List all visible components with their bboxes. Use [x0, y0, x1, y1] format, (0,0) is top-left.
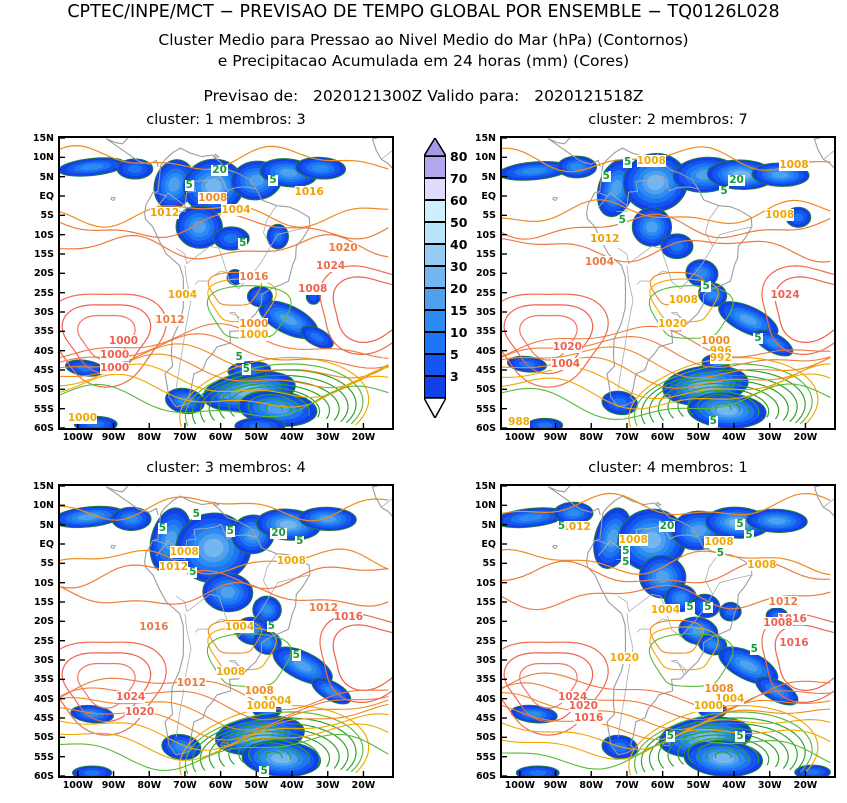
precip-label: 5	[719, 186, 728, 197]
isobar-label: 1000	[68, 412, 97, 424]
isobar-label: 1020	[125, 706, 154, 718]
isobar-label: 1020	[610, 652, 639, 664]
precip-label: 20	[659, 521, 676, 532]
colorbar-cell	[424, 310, 446, 332]
y-axis-tick-label: 45S	[18, 713, 54, 724]
page-title: CPTEC/INPE/MCT − PREVISAO DE TEMPO GLOBA…	[0, 2, 847, 22]
isobar-label: 1016	[139, 621, 168, 633]
isobar-label: 1000	[239, 329, 268, 341]
y-axis-tick-label: 5N	[18, 520, 54, 531]
chart-subtitle-line-2: e Precipitacao Acumulada em 24 horas (mm…	[0, 52, 847, 70]
precip-label: 5	[238, 238, 247, 249]
y-axis-tick-label: 10S	[18, 578, 54, 589]
y-axis-tick-label: 55S	[460, 752, 496, 763]
isobar-label: 1008	[637, 155, 666, 167]
y-axis-tick-label: 15S	[460, 597, 496, 608]
isobar-label: 1016	[574, 712, 603, 724]
isobar-label: 1012	[177, 677, 206, 689]
colorbar-tick-label: 80	[450, 149, 467, 164]
isobar-label: 1004	[551, 358, 580, 370]
precip-contour-band	[128, 165, 143, 173]
y-axis-tick-label: 10N	[460, 500, 496, 511]
colorbar-tick-label: 3	[450, 369, 459, 384]
y-axis-tick-label: 30S	[18, 655, 54, 666]
isobar-label: 1008	[747, 559, 776, 571]
y-axis-tick-label: 20S	[18, 616, 54, 627]
y-axis-tick-label: 10S	[18, 230, 54, 241]
colorbar-tick-label: 40	[450, 237, 467, 252]
panel-title-cluster-4: cluster: 4 membros: 1	[500, 460, 836, 476]
colorbar-tick-label: 10	[450, 325, 467, 340]
y-axis-tick-label: 25S	[460, 636, 496, 647]
precip-contour-band	[529, 770, 547, 776]
precip-contour-band	[567, 509, 580, 516]
isobar-label: 1000	[694, 700, 723, 712]
precip-label: 5	[709, 416, 718, 427]
y-axis-tick-label: 25S	[18, 636, 54, 647]
y-axis-tick-label: 35S	[18, 326, 54, 337]
isobar-label: 1000	[109, 335, 138, 347]
precip-label: 5	[735, 519, 744, 530]
isobar-label: 1000	[239, 318, 268, 330]
colorbar-tick-label: 70	[450, 171, 467, 186]
isobar-label: 1024	[770, 289, 799, 301]
forecast-time-line: Previsao de: 2020121300Z Valido para: 20…	[0, 87, 847, 105]
isobar-label: 1008	[198, 192, 227, 204]
isobar-label: 1016	[334, 611, 363, 623]
isobar-label: 1020	[328, 242, 357, 254]
y-axis-tick-label: 55S	[18, 752, 54, 763]
colorbar-tick-label: 15	[450, 303, 467, 318]
y-axis-tick-label: 10N	[18, 152, 54, 163]
x-axis-tick-label: 20W	[783, 780, 827, 791]
y-axis-tick-label: EQ	[18, 539, 54, 550]
y-axis-tick-label: 20S	[460, 616, 496, 627]
x-axis-tick-label: 20W	[341, 432, 385, 443]
isobar-label: 1008	[298, 283, 327, 295]
precip-label: 5	[716, 548, 725, 559]
precip-label: 5	[259, 766, 268, 777]
y-axis-tick-label: 25S	[18, 288, 54, 299]
y-axis-tick-label: 50S	[18, 384, 54, 395]
precip-label: 5	[753, 333, 762, 344]
isobar-label: 1008	[779, 159, 808, 171]
map-panel-cluster-1[interactable]	[58, 136, 394, 430]
y-axis-tick-label: 45S	[18, 365, 54, 376]
precip-label: 5	[242, 364, 251, 375]
precip-contour-band	[231, 273, 240, 282]
y-axis-tick-label: 30S	[460, 655, 496, 666]
isobar-label: 1008	[216, 666, 245, 678]
precip-label: 5	[666, 731, 675, 742]
isobar-label: 1024	[316, 260, 345, 272]
isobar-label: 1004	[225, 621, 254, 633]
precip-label: 20	[211, 165, 228, 176]
isobar-label: 1020	[553, 341, 582, 353]
y-axis-tick-label: 45S	[460, 713, 496, 724]
y-axis-tick-label: 55S	[18, 404, 54, 415]
y-axis-tick-label: 60S	[460, 771, 496, 782]
y-axis-tick-label: 5S	[18, 210, 54, 221]
isobar-label: 1008	[763, 617, 792, 629]
chart-subtitle-line-1: Cluster Medio para Pressao ao Nivel Medi…	[0, 31, 847, 49]
x-axis-tick-label: 20W	[783, 432, 827, 443]
colorbar-cell	[424, 376, 446, 398]
y-axis-tick-label: 50S	[18, 732, 54, 743]
precip-contour-band	[84, 770, 100, 776]
colorbar-cell	[424, 200, 446, 222]
y-axis-tick-label: 5N	[18, 172, 54, 183]
precip-label: 5	[618, 215, 627, 226]
y-axis-tick-label: 20S	[18, 268, 54, 279]
colorbar-cell	[424, 354, 446, 376]
precip-contour-band	[537, 422, 552, 428]
precip-label: 5	[750, 644, 759, 655]
precip-label: 5	[188, 567, 197, 578]
panel-title-cluster-2: cluster: 2 membros: 7	[500, 112, 836, 128]
isobar-label: 1000	[246, 700, 275, 712]
forecast-run-label: Previsao de:	[204, 87, 299, 105]
isobar-label: 1012	[769, 596, 798, 608]
y-axis-tick-label: 15S	[18, 597, 54, 608]
isobar-label: 1012	[590, 233, 619, 245]
colorbar-cell	[424, 222, 446, 244]
colorbar-tick-label: 5	[450, 347, 459, 362]
y-axis-tick-label: 5S	[18, 558, 54, 569]
colorbar-tick-label: 50	[450, 215, 467, 230]
precip-label: 5	[267, 621, 276, 632]
colorbar-arrow-outline	[424, 138, 446, 156]
y-axis-tick-label: 40S	[18, 346, 54, 357]
y-axis-tick-label: 10N	[18, 500, 54, 511]
isobar-label: 988	[508, 416, 530, 428]
precipitation-colorbar: 80706050403020151053	[424, 138, 494, 438]
precip-label: 5	[703, 602, 712, 613]
isobar-label: 992	[710, 352, 732, 364]
precip-label: 5	[192, 509, 201, 520]
valid-label: Valido para:	[427, 87, 519, 105]
y-axis-tick-label: 60S	[18, 423, 54, 434]
colorbar-cell	[424, 156, 446, 178]
colorbar-cell	[424, 332, 446, 354]
isobar-label: 1004	[221, 204, 250, 216]
precip-contour-band	[224, 234, 239, 244]
isobar-label: 1004	[585, 256, 614, 268]
colorbar-cell	[424, 244, 446, 266]
isobar-label: 1024	[116, 691, 145, 703]
isobar-label: 1016	[779, 637, 808, 649]
y-axis-tick-label: EQ	[460, 539, 496, 550]
colorbar-cell	[424, 288, 446, 310]
y-axis-tick-label: 15N	[460, 481, 496, 492]
precip-label: 5	[185, 180, 194, 191]
precip-label: 5	[621, 546, 630, 557]
y-axis-tick-label: 40S	[460, 694, 496, 705]
isobar-label: 1008	[170, 546, 199, 558]
isobar-label: 1008	[669, 294, 698, 306]
y-axis-tick-label: EQ	[18, 191, 54, 202]
precip-label: 5	[226, 526, 235, 537]
panel-title-cluster-3: cluster: 3 membros: 4	[58, 460, 394, 476]
valid-time: 2020121518Z	[534, 87, 643, 105]
colorbar-tick-label: 30	[450, 259, 467, 274]
isobar-label: 1012	[155, 314, 184, 326]
precip-label: 5	[685, 602, 694, 613]
panel-title-cluster-1: cluster: 1 membros: 3	[58, 112, 394, 128]
colorbar-tick-label: 20	[450, 281, 467, 296]
precip-label: 5	[295, 536, 304, 547]
precip-label: 20	[270, 528, 287, 539]
precip-label: 5	[735, 731, 744, 742]
y-axis-tick-label: 15N	[18, 133, 54, 144]
isobar-label: 1012	[150, 207, 179, 219]
y-axis-tick-label: 15N	[18, 481, 54, 492]
y-axis-tick-label: 60S	[18, 771, 54, 782]
colorbar-tick-label: 60	[450, 193, 467, 208]
precip-label: 5	[621, 557, 630, 568]
y-axis-tick-label: 5N	[460, 520, 496, 531]
isobar-label: 1000	[100, 349, 129, 361]
y-axis-tick-label: 50S	[460, 732, 496, 743]
precip-contour-band	[793, 213, 803, 221]
isobar-label: 1008	[277, 555, 306, 567]
map-canvas	[60, 138, 392, 428]
y-axis-tick-label: 15S	[18, 249, 54, 260]
precip-label: 5	[292, 650, 301, 661]
precip-label: 5	[158, 523, 167, 534]
isobar-label: 1008	[765, 209, 794, 221]
precip-label: 5	[744, 530, 753, 541]
isobar-label: 1004	[168, 289, 197, 301]
forecast-run-time: 2020121300Z	[313, 87, 422, 105]
precip-label: 5	[234, 352, 243, 363]
isobar-label: 1020	[658, 318, 687, 330]
precip-label: 5	[557, 521, 566, 532]
map-canvas	[502, 138, 834, 428]
precip-label: 5	[623, 157, 632, 168]
colorbar-cell	[424, 266, 446, 288]
isobar-label: 1000	[100, 362, 129, 374]
isobar-label: 1004	[651, 604, 680, 616]
y-axis-tick-label: 10S	[460, 578, 496, 589]
precip-contour-band	[675, 594, 686, 603]
y-axis-tick-label: 5S	[460, 558, 496, 569]
colorbar-extend-low-arrow	[424, 398, 446, 418]
x-axis-tick-label: 20W	[341, 780, 385, 791]
isobar-label: 1016	[239, 271, 268, 283]
colorbar-cell	[424, 178, 446, 200]
y-axis-tick-label: 30S	[18, 307, 54, 318]
isobar-label: 1016	[295, 186, 324, 198]
isobar-label: 1012	[159, 561, 188, 573]
precip-label: 5	[268, 175, 277, 186]
precip-label: 20	[728, 175, 745, 186]
y-axis-tick-label: 35S	[460, 674, 496, 685]
isobar-label: 1020	[569, 700, 598, 712]
y-axis-tick-label: 40S	[18, 694, 54, 705]
y-axis-tick-label: 35S	[18, 674, 54, 685]
precip-label: 5	[602, 171, 611, 182]
map-panel-cluster-2[interactable]	[500, 136, 836, 430]
precip-label: 5	[701, 281, 710, 292]
